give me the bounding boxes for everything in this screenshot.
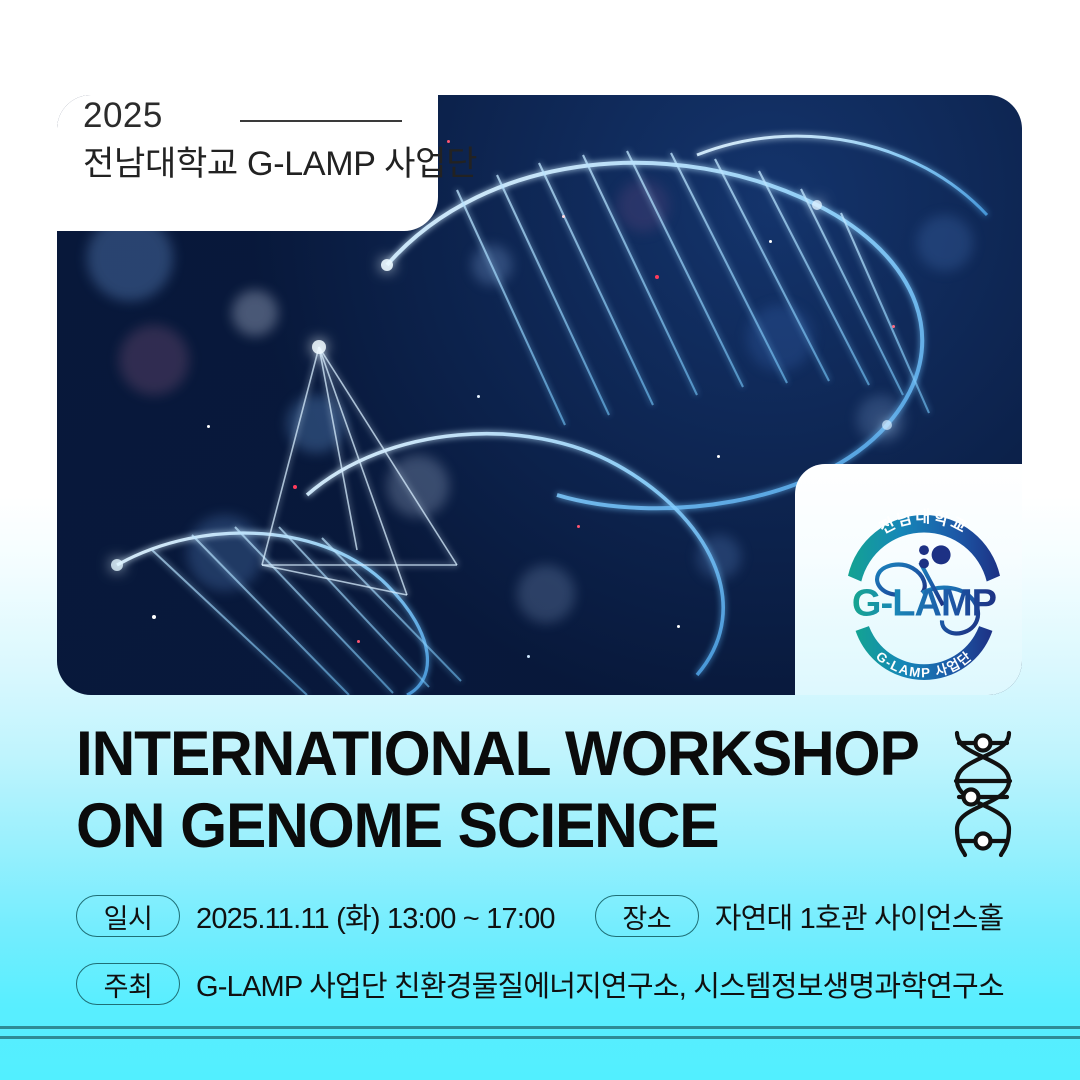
- value-location: 자연대 1호관 사이언스홀: [715, 895, 1004, 937]
- label-datetime: 일시: [76, 895, 180, 937]
- footer-stripe-upper: [0, 1026, 1080, 1029]
- value-datetime: 2025.11.11 (화) 13:00 ~ 17:00: [196, 895, 555, 937]
- page-title: INTERNATIONAL WORKSHOP ON GENOME SCIENCE: [76, 722, 956, 859]
- info-group-datetime: 일시 2025.11.11 (화) 13:00 ~ 17:00: [76, 895, 555, 937]
- header-block: 2025 전남대학교 G-LAMP 사업단: [0, 0, 460, 230]
- header-year: 2025: [83, 98, 163, 133]
- info-group-location: 장소 자연대 1호관 사이언스홀: [595, 895, 1004, 937]
- g-lamp-logo: 전남대학교 G-LAMP G-LAMP 사업단: [828, 496, 1020, 686]
- g-lamp-logo-svg: 전남대학교 G-LAMP G-LAMP 사업단: [828, 496, 1020, 686]
- info-row-datetime-location: 일시 2025.11.11 (화) 13:00 ~ 17:00 장소 자연대 1…: [76, 888, 1026, 944]
- title-line-1: INTERNATIONAL WORKSHOP: [76, 722, 921, 786]
- dna-helix-icon-svg: [941, 727, 1025, 859]
- label-host: 주최: [76, 963, 180, 1005]
- value-host: G-LAMP 사업단 친환경물질에너지연구소, 시스템정보생명과학연구소: [196, 963, 1004, 1005]
- logo-molecule-nodes: [919, 545, 951, 568]
- poster-root: 2025 전남대학교 G-LAMP 사업단: [0, 0, 1080, 1080]
- info-row-host: 주최 G-LAMP 사업단 친환경물질에너지연구소, 시스템정보생명과학연구소: [76, 956, 1026, 1012]
- info-group-host: 주최 G-LAMP 사업단 친환경물질에너지연구소, 시스템정보생명과학연구소: [76, 963, 1004, 1005]
- logo-top-arc-text: 전남대학교: [877, 508, 972, 538]
- event-details: 일시 2025.11.11 (화) 13:00 ~ 17:00 장소 자연대 1…: [76, 888, 1026, 1024]
- dna-helix-icon: [941, 727, 1025, 859]
- label-location: 장소: [595, 895, 699, 937]
- footer-stripe-lower: [0, 1036, 1080, 1039]
- header-divider-rule: [240, 120, 402, 122]
- title-line-2: ON GENOME SCIENCE: [76, 794, 921, 858]
- logo-wordmark: G-LAMP: [852, 583, 997, 625]
- header-organization: 전남대학교 G-LAMP 사업단: [83, 146, 477, 183]
